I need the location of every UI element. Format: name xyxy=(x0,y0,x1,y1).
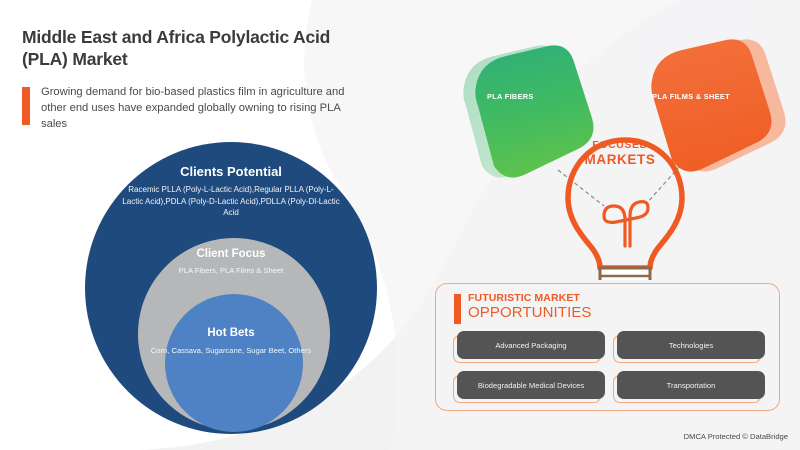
opportunities-accent-bar xyxy=(454,294,461,324)
clients-potential-title: Clients Potential xyxy=(85,164,377,179)
clients-potential-body: Racemic PLLA (Poly-L-Lactic Acid),Regula… xyxy=(85,184,377,219)
opportunity-label[interactable]: Technologies xyxy=(617,331,765,359)
client-focus-title: Client Focus xyxy=(85,248,377,260)
header: Middle East and Africa Polylactic Acid (… xyxy=(22,26,362,133)
opportunity-item[interactable]: Biodegradable Medical Devices xyxy=(453,371,605,403)
hot-bets-body: Corn, Cassava, Sugarcane, Sugar Beet, Ot… xyxy=(85,345,377,356)
opportunity-item[interactable]: Technologies xyxy=(613,331,765,363)
opportunity-label[interactable]: Advanced Packaging xyxy=(457,331,605,359)
shape-label-pla-fibers: PLA FIBERS xyxy=(487,92,534,101)
focused-markets-label: FOCUSED MARKETS xyxy=(568,140,672,166)
futuristic-market-opportunities-panel: FUTURISTIC MARKET OPPORTUNITIES Advanced… xyxy=(435,283,780,411)
opportunity-label[interactable]: Biodegradable Medical Devices xyxy=(457,371,605,399)
opportunities-heading-line1: FUTURISTIC MARKET xyxy=(468,293,592,304)
dmca-footer: DMCA Protected © DataBridge xyxy=(684,432,788,441)
subtitle-block: Growing demand for bio-based plastics fi… xyxy=(22,85,362,133)
accent-bar xyxy=(22,87,30,125)
opportunities-heading-text: FUTURISTIC MARKET OPPORTUNITIES xyxy=(468,293,592,324)
concentric-circles-diagram: Clients Potential Racemic PLLA (Poly-L-L… xyxy=(85,142,377,434)
opportunities-grid: Advanced Packaging Technologies Biodegra… xyxy=(453,331,765,403)
client-focus-body: PLA Fibers, PLA Films & Sheet xyxy=(85,266,377,275)
hot-bets-circle xyxy=(165,294,303,432)
opportunities-heading-line2: OPPORTUNITIES xyxy=(468,305,592,320)
page-title: Middle East and Africa Polylactic Acid (… xyxy=(22,26,362,71)
subtitle-text: Growing demand for bio-based plastics fi… xyxy=(41,85,362,133)
focused-markets-line2: MARKETS xyxy=(568,153,672,167)
focused-markets-line1: FOCUSED xyxy=(568,140,672,151)
hot-bets-title: Hot Bets xyxy=(85,327,377,339)
opportunity-label[interactable]: Transportation xyxy=(617,371,765,399)
opportunities-heading: FUTURISTIC MARKET OPPORTUNITIES xyxy=(454,293,592,324)
shape-label-pla-films-sheet: PLA FILMS & SHEET xyxy=(652,92,730,101)
opportunity-item[interactable]: Advanced Packaging xyxy=(453,331,605,363)
opportunity-item[interactable]: Transportation xyxy=(613,371,765,403)
